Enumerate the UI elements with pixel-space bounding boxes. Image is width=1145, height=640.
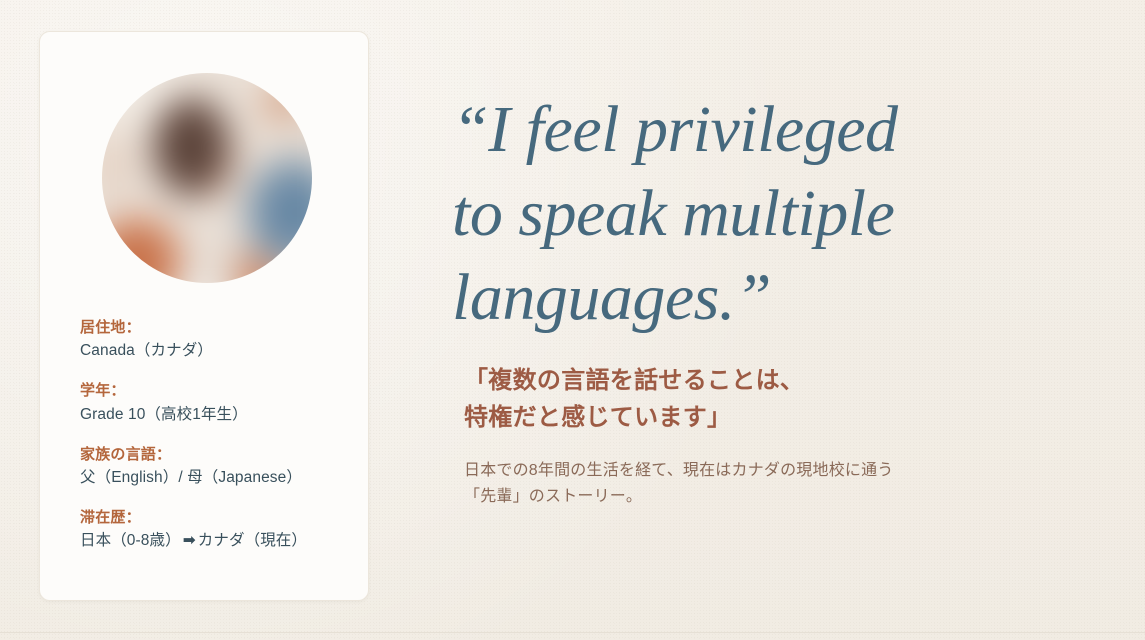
slide-root: 居住地： Canada（カナダ） 学年： Grade 10（高校1年生） 家族の… (0, 0, 1145, 640)
avatar (102, 73, 312, 283)
fact-label: 滞在歴： (80, 506, 350, 529)
fact-residence-history: 滞在歴： 日本（0-8歳）➡カナダ（現在） (80, 506, 350, 553)
fact-value: 日本（0-8歳）➡カナダ（現在） (80, 529, 350, 553)
fact-value: Canada（カナダ） (80, 339, 350, 363)
fact-label: 家族の言語： (80, 443, 350, 466)
arrow-right-icon: ➡ (181, 532, 198, 549)
fact-value: 父（English）/ 母（Japanese） (80, 466, 350, 490)
fact-grade: 学年： Grade 10（高校1年生） (80, 379, 350, 426)
fact-value-origin: 日本（0-8歳） (80, 532, 181, 549)
fact-label: 学年： (80, 379, 350, 402)
fact-label: 居住地： (80, 316, 350, 339)
fact-family-languages: 家族の言語： 父（English）/ 母（Japanese） (80, 443, 350, 490)
footer-divider (0, 632, 1145, 633)
quote-japanese: 「複数の言語を話せることは、 特権だと感じています」 (464, 363, 1072, 436)
profile-card: 居住地： Canada（カナダ） 学年： Grade 10（高校1年生） 家族の… (39, 31, 369, 601)
avatar-photo-blurred (102, 73, 312, 283)
quote-note: 日本での8年間の生活を経て、現在はカナダの現地校に通う 「先輩」のストーリー。 (464, 458, 1072, 510)
fact-value-destination: カナダ（現在） (198, 532, 307, 549)
quote-panel: “I feel privileged to speak multiple lan… (452, 88, 1072, 510)
fact-residence: 居住地： Canada（カナダ） (80, 316, 350, 363)
quote-english: “I feel privileged to speak multiple lan… (452, 88, 1072, 339)
fact-value: Grade 10（高校1年生） (80, 403, 350, 427)
profile-facts-list: 居住地： Canada（カナダ） 学年： Grade 10（高校1年生） 家族の… (80, 316, 350, 553)
